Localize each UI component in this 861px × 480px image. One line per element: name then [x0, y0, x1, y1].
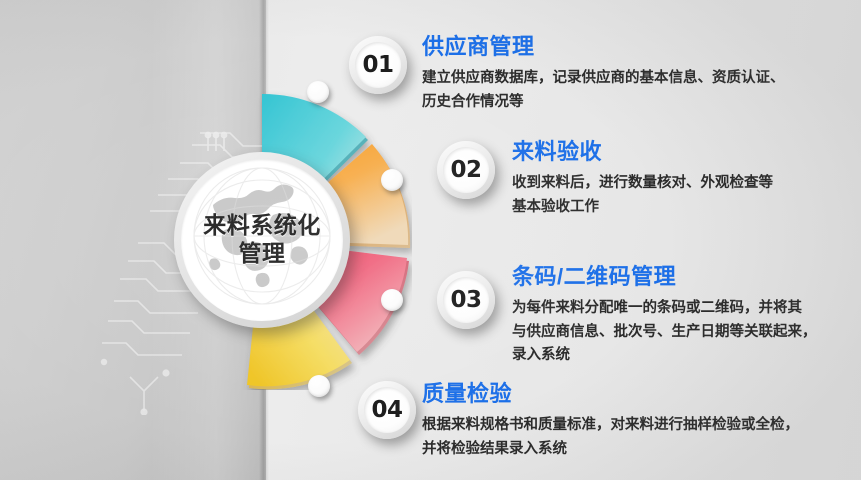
step-badge-03[interactable]: 03	[437, 271, 495, 329]
step-badge-02-number: 02	[450, 157, 481, 183]
step-badge-03-number: 03	[450, 287, 481, 313]
step-text-04: 质量检验 根据来料规格书和质量标准，对来料进行抽样检验或全检， 并将检验结果录入…	[422, 381, 799, 461]
connector-dot-03	[381, 289, 403, 311]
step-desc-03-line-2: 与供应商信息、批次号、生产日期等关联起来，	[512, 321, 817, 344]
connector-dot-01	[307, 81, 329, 103]
step-badge-02[interactable]: 02	[437, 141, 495, 199]
step-badge-04[interactable]: 04	[358, 381, 416, 439]
step-desc-04-line-1: 根据来料规格书和质量标准，对来料进行抽样检验或全检，	[422, 414, 799, 437]
step-desc-03-line-1: 为每件来料分配唯一的条码或二维码，并将其	[512, 297, 817, 320]
hub-title-line-2: 管理	[181, 239, 343, 267]
step-badge-01[interactable]: 01	[349, 36, 407, 94]
hub-title-line-1: 来料系统化	[181, 211, 343, 239]
center-hub-inner: 来料系统化 管理	[181, 159, 343, 321]
step-badge-02-inner: 02	[443, 147, 489, 193]
step-title-02: 来料验收	[512, 139, 773, 165]
step-text-01: 供应商管理 建立供应商数据库，记录供应商的基本信息、资质认证、 历史合作情况等	[422, 34, 785, 114]
step-title-04: 质量检验	[422, 381, 799, 407]
step-title-01: 供应商管理	[422, 34, 785, 60]
step-desc-01: 建立供应商数据库，记录供应商的基本信息、资质认证、 历史合作情况等	[422, 67, 785, 114]
step-text-02: 来料验收 收到来料后，进行数量核对、外观检查等 基本验收工作	[512, 139, 773, 219]
connector-dot-04	[308, 375, 330, 397]
step-badge-01-number: 01	[362, 52, 393, 78]
step-badge-01-inner: 01	[355, 42, 401, 88]
step-desc-02-line-1: 收到来料后，进行数量核对、外观检查等	[512, 172, 773, 195]
connector-dot-02	[381, 169, 403, 191]
step-desc-01-line-1: 建立供应商数据库，记录供应商的基本信息、资质认证、	[422, 67, 785, 90]
step-desc-01-line-2: 历史合作情况等	[422, 91, 785, 114]
hub-title: 来料系统化 管理	[181, 211, 343, 267]
infographic-slide: 来料系统化 管理 01 02 03 04 供应商管理 建立供应商数据库，记录	[0, 0, 861, 480]
center-hub: 来料系统化 管理	[174, 152, 350, 328]
step-desc-03-line-3: 录入系统	[512, 344, 817, 367]
step-desc-04-line-2: 并将检验结果录入系统	[422, 438, 799, 461]
step-title-03: 条码/二维码管理	[512, 264, 817, 290]
step-badge-04-inner: 04	[364, 387, 410, 433]
step-desc-02-line-2: 基本验收工作	[512, 196, 773, 219]
step-desc-03: 为每件来料分配唯一的条码或二维码，并将其 与供应商信息、批次号、生产日期等关联起…	[512, 297, 817, 367]
step-badge-03-inner: 03	[443, 277, 489, 323]
step-desc-04: 根据来料规格书和质量标准，对来料进行抽样检验或全检， 并将检验结果录入系统	[422, 414, 799, 461]
step-text-03: 条码/二维码管理 为每件来料分配唯一的条码或二维码，并将其 与供应商信息、批次号…	[512, 264, 817, 368]
step-badge-04-number: 04	[371, 397, 402, 423]
step-desc-02: 收到来料后，进行数量核对、外观检查等 基本验收工作	[512, 172, 773, 219]
